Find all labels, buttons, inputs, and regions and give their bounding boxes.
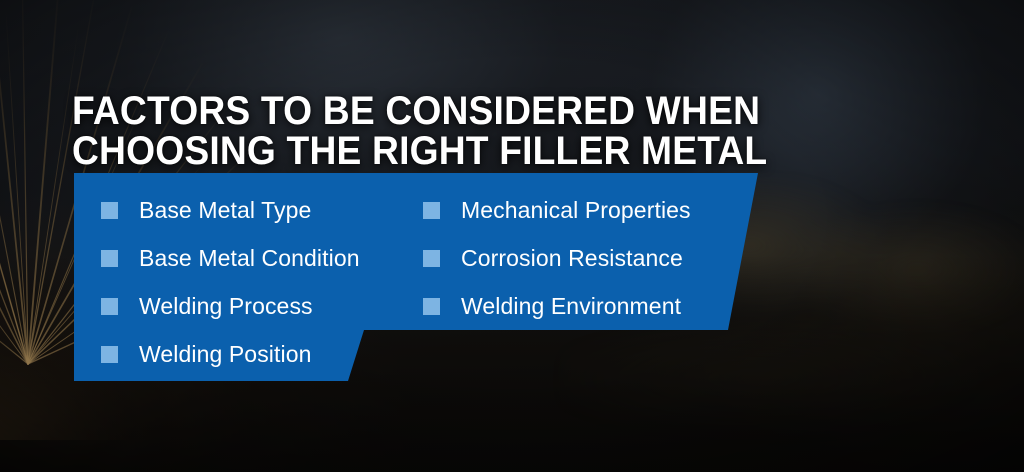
bullet-square-icon <box>101 250 118 267</box>
list-item-label: Corrosion Resistance <box>461 247 683 270</box>
list-item: Welding Environment <box>423 282 691 330</box>
bullet-square-icon <box>423 298 440 315</box>
list-item-label: Mechanical Properties <box>461 199 691 222</box>
page-title-line-2: CHOOSING THE RIGHT FILLER METAL <box>72 131 779 171</box>
list-item-label: Welding Environment <box>461 295 681 318</box>
bullet-square-icon <box>423 202 440 219</box>
list-item-label: Base Metal Condition <box>139 247 360 270</box>
list-item: Mechanical Properties <box>423 186 691 234</box>
page-title: FACTORS TO BE CONSIDERED WHEN CHOOSING T… <box>72 91 779 171</box>
factors-column-left: Base Metal Type Base Metal Condition Wel… <box>101 186 360 378</box>
list-item: Welding Position <box>101 330 360 378</box>
list-item: Base Metal Type <box>101 186 360 234</box>
page-title-line-1: FACTORS TO BE CONSIDERED WHEN <box>72 91 779 131</box>
list-item-label: Welding Process <box>139 295 313 318</box>
list-item-label: Base Metal Type <box>139 199 311 222</box>
factors-column-right: Mechanical Properties Corrosion Resistan… <box>423 186 691 330</box>
bullet-square-icon <box>423 250 440 267</box>
bullet-square-icon <box>101 202 118 219</box>
list-item-label: Welding Position <box>139 343 312 366</box>
infographic-banner: FACTORS TO BE CONSIDERED WHEN CHOOSING T… <box>0 0 1024 472</box>
list-item: Base Metal Condition <box>101 234 360 282</box>
bullet-square-icon <box>101 346 118 363</box>
bullet-square-icon <box>101 298 118 315</box>
list-item: Welding Process <box>101 282 360 330</box>
list-item: Corrosion Resistance <box>423 234 691 282</box>
